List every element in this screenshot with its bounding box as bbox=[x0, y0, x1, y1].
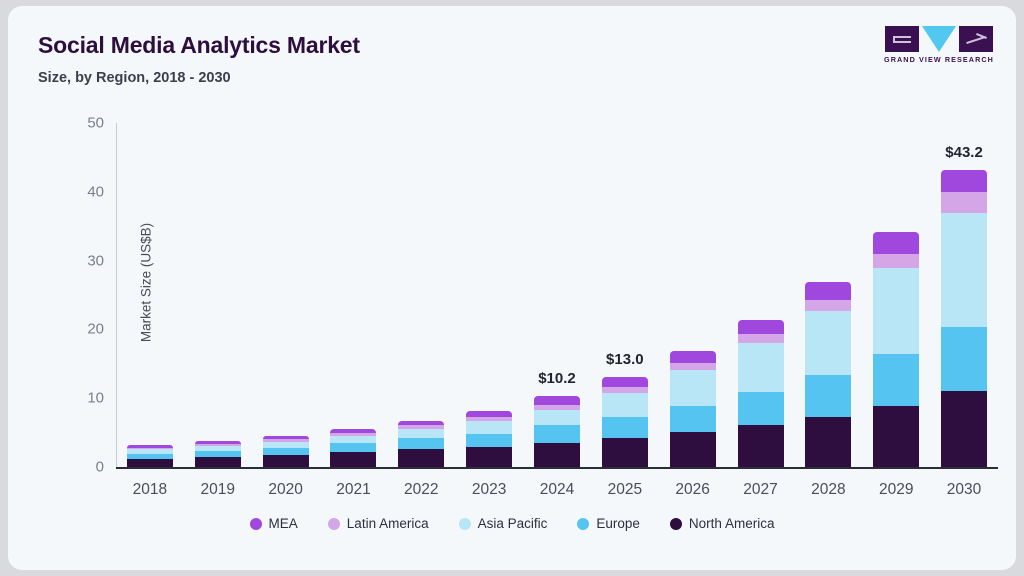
stacked-bar-2019[interactable] bbox=[195, 441, 241, 467]
legend-label: North America bbox=[689, 516, 775, 531]
bar-segment-europe-2026[interactable] bbox=[670, 406, 716, 432]
bar-slot-2025[interactable]: $13.02025 bbox=[591, 123, 659, 467]
bar-slot-2023[interactable]: 2023 bbox=[455, 123, 523, 467]
chart-plot-area: Market Size (US$B) 01020304050 201820192… bbox=[116, 123, 998, 467]
y-axis-tick-0: 0 bbox=[58, 459, 104, 476]
bar-slot-2022[interactable]: 2022 bbox=[387, 123, 455, 467]
chart-legend: MEALatin AmericaAsia PacificEuropeNorth … bbox=[8, 516, 1016, 531]
bar-value-label-2024: $10.2 bbox=[538, 370, 576, 387]
x-axis-tick-2021: 2021 bbox=[336, 481, 370, 499]
bar-segment-mea-2024[interactable] bbox=[534, 396, 580, 405]
chart-subtitle: Size, by Region, 2018 - 2030 bbox=[38, 70, 231, 86]
bar-slot-2020[interactable]: 2020 bbox=[252, 123, 320, 467]
bar-value-label-2025: $13.0 bbox=[606, 351, 644, 368]
bar-segment-north-america-2027[interactable] bbox=[738, 425, 784, 467]
bar-segment-north-america-2028[interactable] bbox=[805, 417, 851, 467]
y-axis-tick-40: 40 bbox=[58, 183, 104, 200]
bar-segment-north-america-2025[interactable] bbox=[602, 438, 648, 467]
x-axis-tick-2028: 2028 bbox=[811, 481, 845, 499]
bar-segment-europe-2029[interactable] bbox=[873, 354, 919, 406]
legend-swatch-icon bbox=[459, 518, 471, 530]
bar-segment-north-america-2021[interactable] bbox=[330, 452, 376, 467]
bar-segment-asia-pacific-2030[interactable] bbox=[941, 213, 987, 327]
bar-segment-mea-2030[interactable] bbox=[941, 170, 987, 192]
legend-item-mea[interactable]: MEA bbox=[250, 516, 298, 531]
bar-segment-asia-pacific-2028[interactable] bbox=[805, 311, 851, 375]
bar-segment-asia-pacific-2026[interactable] bbox=[670, 370, 716, 406]
bar-segment-asia-pacific-2023[interactable] bbox=[466, 421, 512, 433]
bar-segment-asia-pacific-2029[interactable] bbox=[873, 268, 919, 353]
bar-segment-north-america-2024[interactable] bbox=[534, 443, 580, 467]
bar-slot-2021[interactable]: 2021 bbox=[320, 123, 388, 467]
bar-segment-latin-america-2026[interactable] bbox=[670, 363, 716, 370]
bar-segment-latin-america-2028[interactable] bbox=[805, 300, 851, 311]
bar-segment-europe-2020[interactable] bbox=[263, 448, 309, 455]
legend-item-europe[interactable]: Europe bbox=[577, 516, 640, 531]
bar-segment-asia-pacific-2027[interactable] bbox=[738, 343, 784, 392]
bar-segment-asia-pacific-2024[interactable] bbox=[534, 410, 580, 425]
y-axis-tick-20: 20 bbox=[58, 321, 104, 338]
legend-swatch-icon bbox=[328, 518, 340, 530]
legend-label: MEA bbox=[269, 516, 298, 531]
stacked-bar-2027[interactable] bbox=[738, 320, 784, 467]
x-axis-tick-2024: 2024 bbox=[540, 481, 574, 499]
bar-segment-europe-2022[interactable] bbox=[398, 438, 444, 449]
stacked-bar-2018[interactable] bbox=[127, 445, 173, 467]
logo-letter-g-icon bbox=[885, 26, 919, 52]
bar-segment-asia-pacific-2025[interactable] bbox=[602, 393, 648, 417]
bar-group: 201820192020202120222023$10.22024$13.020… bbox=[116, 123, 998, 467]
logo-letter-v-icon bbox=[922, 26, 956, 52]
bar-segment-europe-2023[interactable] bbox=[466, 434, 512, 447]
bar-slot-2026[interactable]: 2026 bbox=[659, 123, 727, 467]
stacked-bar-2024[interactable] bbox=[534, 396, 580, 467]
bar-segment-north-america-2023[interactable] bbox=[466, 447, 512, 467]
legend-label: Europe bbox=[596, 516, 640, 531]
stacked-bar-2023[interactable] bbox=[466, 411, 512, 467]
x-axis-tick-2026: 2026 bbox=[675, 481, 709, 499]
bar-segment-latin-america-2027[interactable] bbox=[738, 334, 784, 343]
bar-value-label-2030: $43.2 bbox=[945, 144, 983, 161]
x-axis-tick-2022: 2022 bbox=[404, 481, 438, 499]
bar-segment-europe-2027[interactable] bbox=[738, 392, 784, 425]
stacked-bar-2029[interactable] bbox=[873, 232, 919, 467]
bar-slot-2018[interactable]: 2018 bbox=[116, 123, 184, 467]
x-axis-tick-2019: 2019 bbox=[201, 481, 235, 499]
bar-segment-north-america-2026[interactable] bbox=[670, 432, 716, 467]
x-axis-tick-2029: 2029 bbox=[879, 481, 913, 499]
grand-view-research-logo: GRAND VIEW RESEARCH bbox=[884, 26, 994, 66]
bar-segment-north-america-2019[interactable] bbox=[195, 457, 241, 467]
x-axis-tick-2020: 2020 bbox=[268, 481, 302, 499]
stacked-bar-2030[interactable] bbox=[941, 170, 987, 467]
bar-segment-north-america-2029[interactable] bbox=[873, 406, 919, 467]
chart-card: Social Media Analytics Market Size, by R… bbox=[8, 6, 1016, 570]
legend-item-latin-america[interactable]: Latin America bbox=[328, 516, 429, 531]
legend-item-asia-pacific[interactable]: Asia Pacific bbox=[459, 516, 548, 531]
bar-slot-2029[interactable]: 2029 bbox=[862, 123, 930, 467]
bar-segment-europe-2025[interactable] bbox=[602, 417, 648, 438]
legend-swatch-icon bbox=[670, 518, 682, 530]
bar-segment-mea-2028[interactable] bbox=[805, 282, 851, 300]
bar-segment-mea-2026[interactable] bbox=[670, 351, 716, 363]
x-axis-tick-2025: 2025 bbox=[608, 481, 642, 499]
bar-segment-europe-2028[interactable] bbox=[805, 375, 851, 417]
bar-slot-2024[interactable]: $10.22024 bbox=[523, 123, 591, 467]
bar-segment-north-america-2030[interactable] bbox=[941, 391, 987, 467]
legend-label: Asia Pacific bbox=[478, 516, 548, 531]
y-axis-tick-10: 10 bbox=[58, 390, 104, 407]
legend-swatch-icon bbox=[250, 518, 262, 530]
bar-slot-2030[interactable]: $43.22030 bbox=[930, 123, 998, 467]
logo-wordmark: GRAND VIEW RESEARCH bbox=[884, 55, 994, 64]
legend-label: Latin America bbox=[347, 516, 429, 531]
y-axis-tick-30: 30 bbox=[58, 252, 104, 269]
bar-segment-mea-2025[interactable] bbox=[602, 377, 648, 387]
bar-segment-north-america-2022[interactable] bbox=[398, 449, 444, 467]
bar-segment-latin-america-2029[interactable] bbox=[873, 254, 919, 268]
bar-segment-mea-2027[interactable] bbox=[738, 320, 784, 334]
bar-slot-2028[interactable]: 2028 bbox=[794, 123, 862, 467]
bar-segment-europe-2030[interactable] bbox=[941, 327, 987, 392]
bar-segment-north-america-2018[interactable] bbox=[127, 459, 173, 467]
bar-segment-asia-pacific-2022[interactable] bbox=[398, 429, 444, 438]
stacked-bar-2020[interactable] bbox=[263, 436, 309, 467]
stacked-bar-2025[interactable] bbox=[602, 377, 648, 467]
stacked-bar-2026[interactable] bbox=[670, 351, 716, 467]
x-axis-tick-2018: 2018 bbox=[133, 481, 167, 499]
legend-swatch-icon bbox=[577, 518, 589, 530]
stacked-bar-2021[interactable] bbox=[330, 429, 376, 467]
bar-segment-europe-2024[interactable] bbox=[534, 425, 580, 443]
stacked-bar-2022[interactable] bbox=[398, 421, 444, 467]
bar-segment-europe-2021[interactable] bbox=[330, 443, 376, 452]
x-axis-line bbox=[116, 467, 998, 469]
bar-segment-north-america-2020[interactable] bbox=[263, 455, 309, 467]
y-axis-tick-50: 50 bbox=[58, 115, 104, 132]
x-axis-tick-2023: 2023 bbox=[472, 481, 506, 499]
x-axis-tick-2027: 2027 bbox=[743, 481, 777, 499]
bar-segment-mea-2029[interactable] bbox=[873, 232, 919, 254]
x-axis-tick-2030: 2030 bbox=[947, 481, 981, 499]
page-title: Social Media Analytics Market bbox=[38, 32, 360, 59]
logo-mark-icon bbox=[884, 26, 994, 52]
bar-slot-2019[interactable]: 2019 bbox=[184, 123, 252, 467]
bar-segment-asia-pacific-2021[interactable] bbox=[330, 436, 376, 444]
bar-slot-2027[interactable]: 2027 bbox=[727, 123, 795, 467]
bar-segment-latin-america-2030[interactable] bbox=[941, 192, 987, 213]
legend-item-north-america[interactable]: North America bbox=[670, 516, 775, 531]
logo-letter-r-icon bbox=[959, 26, 993, 52]
stacked-bar-2028[interactable] bbox=[805, 282, 851, 467]
